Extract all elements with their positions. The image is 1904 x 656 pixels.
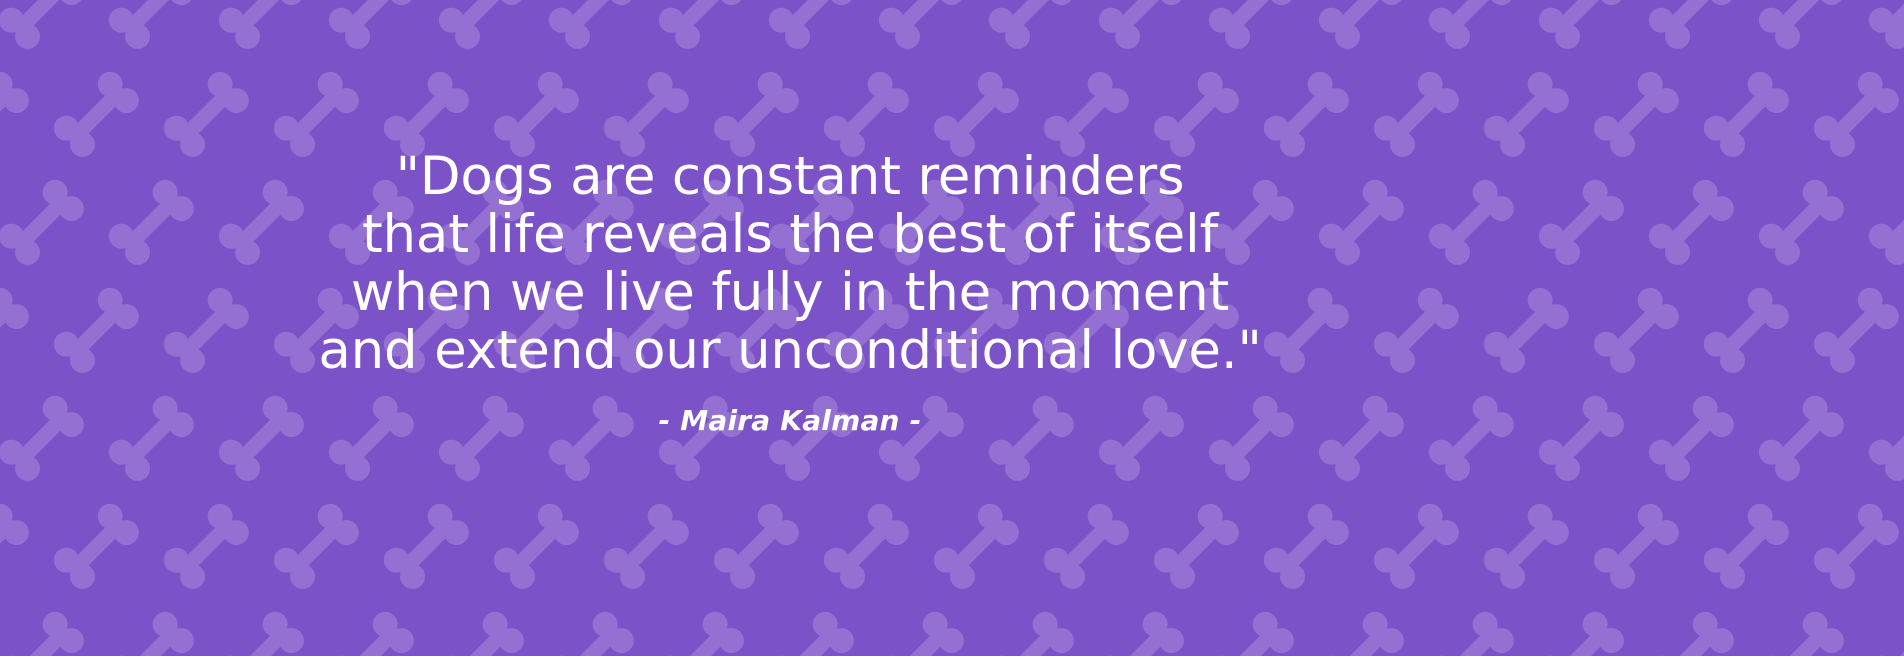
quote-line-1: "Dogs are constant reminders — [175, 148, 1405, 206]
quote-line-3: when we live fully in the moment — [175, 264, 1405, 322]
quote-line-2: that life reveals the best of itself — [175, 206, 1405, 264]
quote-inner: "Dogs are constant reminders that life r… — [175, 148, 1405, 438]
dog-quote-banner: "Dogs are constant reminders that life r… — [0, 0, 1904, 656]
quote-line-4: and extend our unconditional love." — [175, 322, 1405, 380]
quote-attribution: - Maira Kalman - — [175, 404, 1405, 438]
